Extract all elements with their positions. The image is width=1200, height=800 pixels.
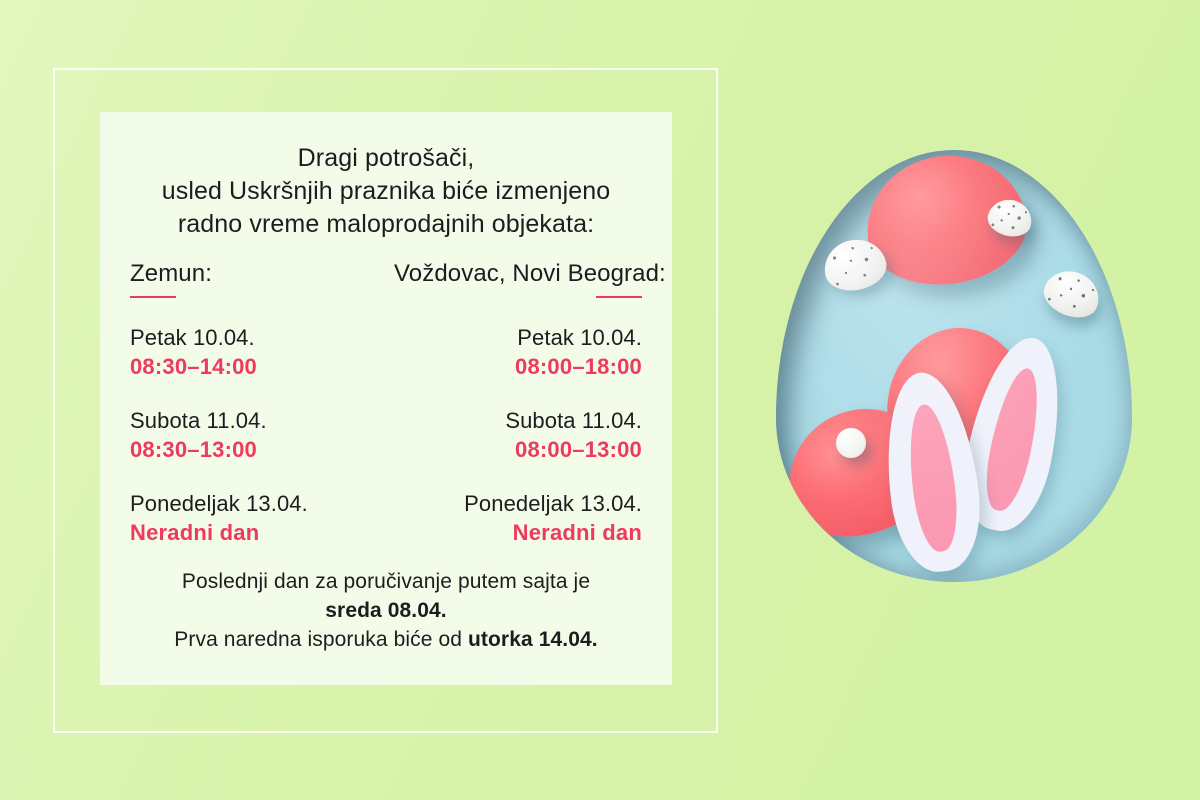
entry-day: Ponedeljak 13.04. — [394, 490, 642, 518]
entry-day: Subota 11.04. — [130, 407, 378, 435]
column-underline-accent — [130, 296, 176, 298]
egg-shaped-cutout — [776, 150, 1132, 582]
bunny-ear-inner — [903, 402, 963, 554]
note-line-1: Poslednji dan za poručivanje putem sajta… — [120, 567, 652, 596]
heading-block: Dragi potrošači, usled Uskršnjih praznik… — [130, 142, 642, 241]
entry-hours: Neradni dan — [130, 518, 378, 547]
coral-egg — [858, 150, 1034, 295]
entry-hours: 08:00–18:00 — [394, 352, 642, 381]
entry-day: Petak 10.04. — [130, 324, 378, 352]
entry-day: Petak 10.04. — [394, 324, 642, 352]
column-title-zemun: Zemun: — [130, 260, 378, 288]
schedule-entry: Subota 11.04. 08:30–13:00 — [130, 407, 378, 464]
schedule-entry: Petak 10.04. 08:00–18:00 — [394, 324, 642, 381]
entry-day: Subota 11.04. — [394, 407, 642, 435]
entry-hours: 08:30–14:00 — [130, 352, 378, 381]
speckled-egg — [1038, 263, 1106, 325]
coral-egg — [883, 323, 1034, 473]
schedule-entry: Ponedeljak 13.04. Neradni dan — [394, 490, 642, 547]
heading-line-3: radno vreme maloprodajnih objekata: — [130, 208, 642, 241]
entry-hours: Neradni dan — [394, 518, 642, 547]
delivery-note: Poslednji dan za poručivanje putem sajta… — [120, 567, 652, 654]
notice-card: Dragi potrošači, usled Uskršnjih praznik… — [100, 112, 672, 685]
entry-hours: 08:30–13:00 — [130, 435, 378, 464]
bunny-ear-inner — [978, 365, 1048, 515]
bunny-ear-left — [876, 367, 988, 576]
column-title-vozdovac-novi-beograd: Voždovac, Novi Beograd: — [394, 260, 642, 288]
schedule-entry: Subota 11.04. 08:00–13:00 — [394, 407, 642, 464]
bunny-ear-right — [953, 329, 1076, 538]
schedule-table: Zemun: Petak 10.04. 08:30–14:00 Subota 1… — [130, 260, 642, 547]
heading-line-2: usled Uskršnjih praznika biće izmenjeno — [130, 175, 642, 208]
schedule-entry: Ponedeljak 13.04. Neradni dan — [130, 490, 378, 547]
column-underline-accent — [596, 296, 642, 298]
notice-heading: Dragi potrošači, usled Uskršnjih praznik… — [130, 142, 642, 241]
note-line-3-prefix: Prva naredna isporuka biće od — [174, 628, 468, 651]
plain-white-egg — [836, 428, 866, 458]
speckled-egg — [984, 195, 1035, 241]
schedule-entry: Petak 10.04. 08:30–14:00 — [130, 324, 378, 381]
schedule-column-zemun: Zemun: Petak 10.04. 08:30–14:00 Subota 1… — [130, 260, 386, 547]
note-line-2-bold: sreda 08.04. — [325, 599, 446, 622]
schedule-column-vozdovac-novi-beograd: Voždovac, Novi Beograd: Petak 10.04. 08:… — [386, 260, 642, 547]
note-line-3-bold: utorka 14.04. — [468, 628, 598, 651]
heading-line-1: Dragi potrošači, — [130, 142, 642, 175]
easter-egg-photo — [740, 120, 1180, 680]
poster-canvas: Dragi potrošači, usled Uskršnjih praznik… — [0, 0, 1200, 800]
coral-egg — [776, 388, 953, 556]
entry-day: Ponedeljak 13.04. — [130, 490, 378, 518]
entry-hours: 08:00–13:00 — [394, 435, 642, 464]
speckled-egg — [819, 234, 890, 296]
